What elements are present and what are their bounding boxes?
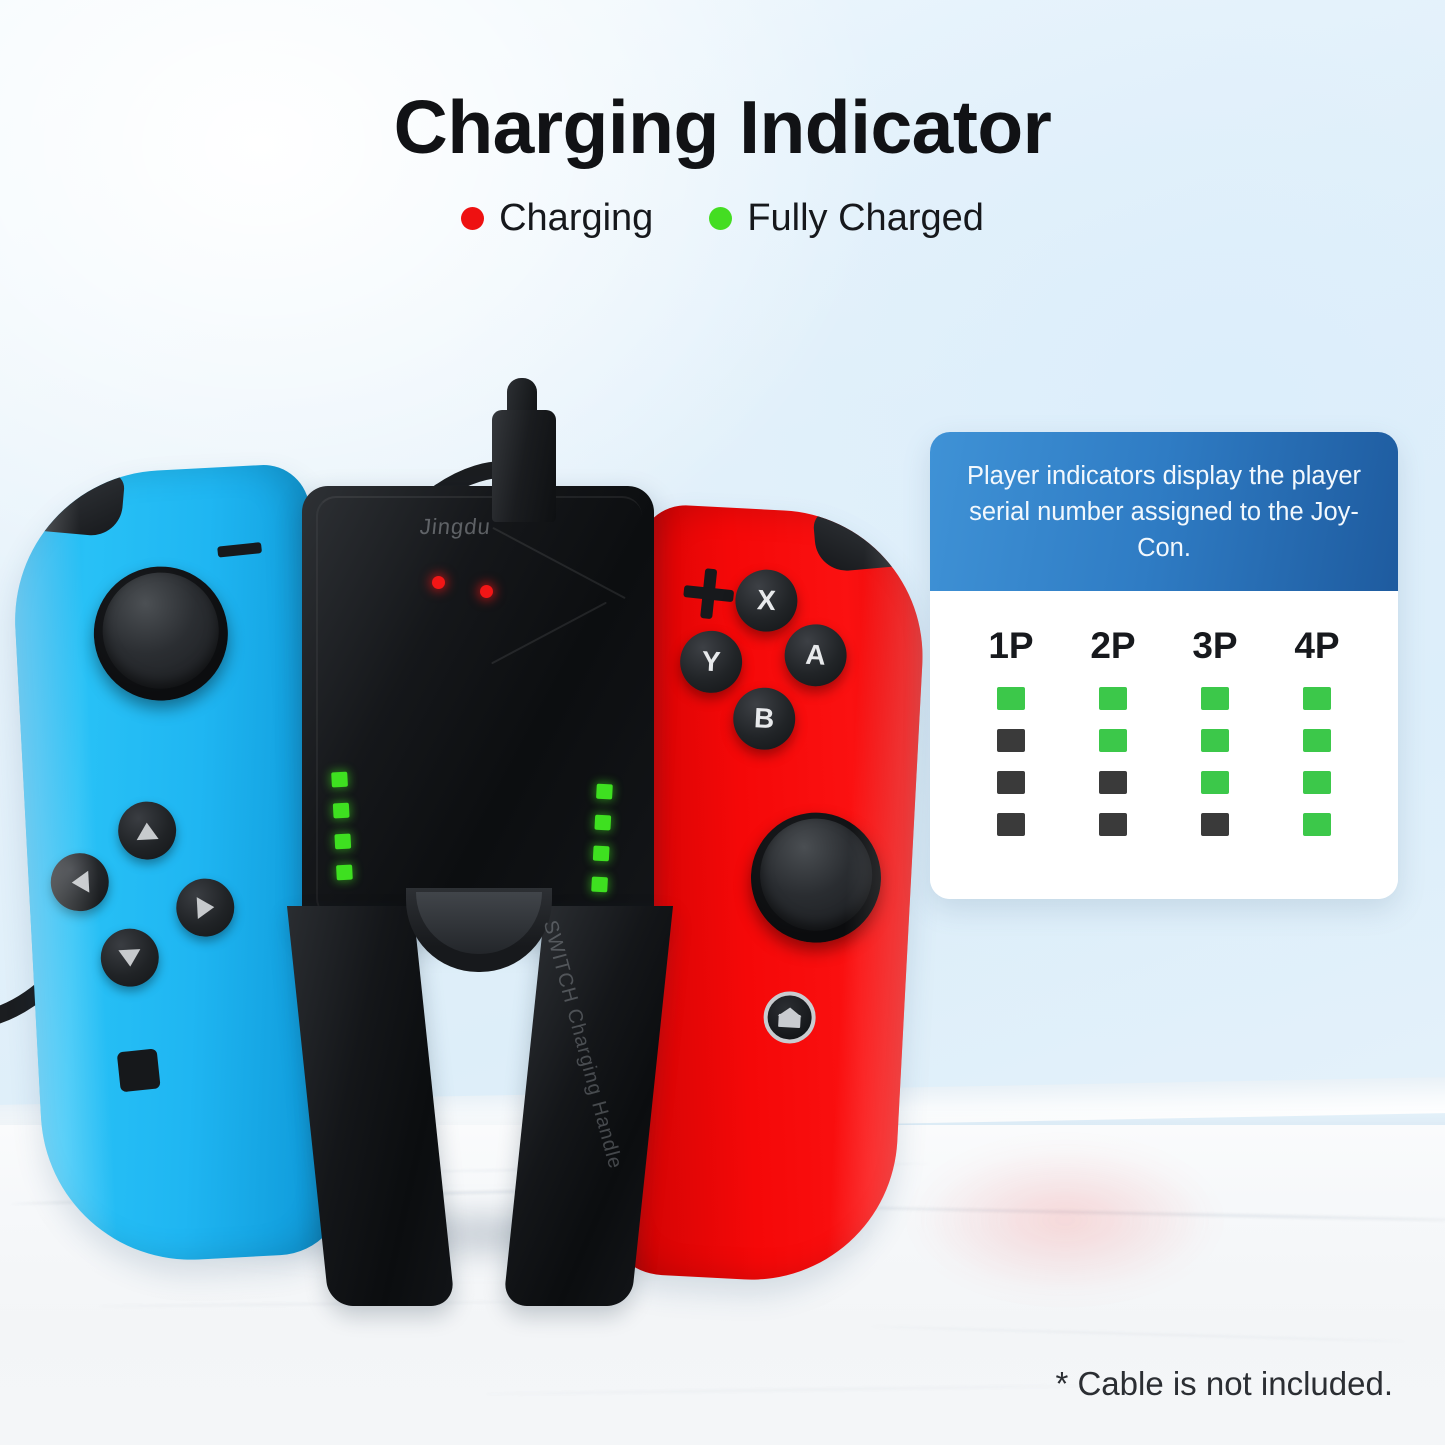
dpad-right-button[interactable] bbox=[175, 877, 236, 938]
marble-vein bbox=[871, 1326, 1405, 1343]
player-indicator-cell bbox=[960, 729, 1062, 752]
capture-button[interactable] bbox=[117, 1048, 161, 1092]
arrow-left-icon bbox=[71, 871, 89, 894]
red-reflection-glow bbox=[915, 1145, 1215, 1295]
player-indicator-cell bbox=[1062, 687, 1164, 710]
dpad-up-button[interactable] bbox=[117, 800, 178, 861]
led-on-icon bbox=[1303, 729, 1331, 752]
joycon-left bbox=[8, 463, 349, 1268]
led-off-icon bbox=[1201, 813, 1229, 836]
status-led bbox=[333, 803, 350, 819]
dpad-down-button[interactable] bbox=[99, 927, 160, 988]
player-indicator-columns: 1P 2P 3P 4P bbox=[960, 625, 1368, 667]
arrow-right-icon bbox=[196, 896, 214, 919]
player-indicator-cell bbox=[1164, 729, 1266, 752]
player-indicator-cell bbox=[1266, 813, 1368, 836]
arrow-down-icon bbox=[118, 949, 141, 967]
player-indicator-cell bbox=[1266, 687, 1368, 710]
charging-handle: Jingdu SWITCH Charging Handle bbox=[302, 486, 654, 1296]
led-on-icon bbox=[1303, 687, 1331, 710]
player-indicator-cell bbox=[1266, 771, 1368, 794]
charging-led-2 bbox=[480, 585, 493, 598]
arrow-up-icon bbox=[136, 822, 159, 840]
player-indicator-card: Player indicators display the player ser… bbox=[930, 432, 1398, 899]
led-off-icon bbox=[1099, 771, 1127, 794]
home-icon bbox=[778, 1007, 801, 1028]
minus-button[interactable] bbox=[217, 542, 262, 558]
player-indicator-cell bbox=[960, 771, 1062, 794]
led-on-icon bbox=[1201, 687, 1229, 710]
dpad-left-button[interactable] bbox=[49, 852, 110, 913]
led-on-icon bbox=[1201, 729, 1229, 752]
column-header-3p: 3P bbox=[1164, 625, 1266, 667]
page-title: Charging Indicator bbox=[0, 88, 1445, 167]
status-led bbox=[334, 834, 351, 850]
home-button[interactable] bbox=[762, 990, 817, 1045]
handle-accent-line bbox=[492, 527, 625, 599]
heading-block: Charging Indicator Charging Fully Charge… bbox=[0, 88, 1445, 240]
legend-label-fully-charged: Fully Charged bbox=[747, 197, 984, 240]
marble-vein bbox=[485, 1385, 1079, 1395]
status-led bbox=[591, 877, 608, 893]
player-indicator-cell bbox=[1062, 813, 1164, 836]
left-analog-stick[interactable] bbox=[90, 563, 231, 704]
red-dot-icon bbox=[461, 207, 484, 230]
status-legend: Charging Fully Charged bbox=[0, 197, 1445, 240]
status-led bbox=[331, 772, 348, 788]
brand-logo: Jingdu bbox=[419, 514, 493, 540]
usb-c-plug bbox=[492, 410, 556, 522]
player-indicator-row bbox=[960, 687, 1368, 710]
column-header-2p: 2P bbox=[1062, 625, 1164, 667]
left-analog-stick-cap bbox=[100, 570, 222, 692]
led-off-icon bbox=[997, 813, 1025, 836]
handle-leg-left bbox=[287, 906, 455, 1306]
legend-label-charging: Charging bbox=[499, 197, 653, 240]
player-indicator-row bbox=[960, 813, 1368, 836]
button-y[interactable]: Y bbox=[679, 629, 744, 694]
led-off-icon bbox=[1099, 813, 1127, 836]
led-off-icon bbox=[997, 729, 1025, 752]
legend-item-charging: Charging bbox=[461, 197, 653, 240]
product-photo: X A Y B Jingdu bbox=[20, 360, 920, 1260]
button-a[interactable]: A bbox=[783, 623, 848, 688]
player-indicator-cell bbox=[1164, 813, 1266, 836]
footnote-disclaimer: * Cable is not included. bbox=[1055, 1365, 1393, 1403]
player-indicator-cell bbox=[1062, 729, 1164, 752]
led-on-icon bbox=[1303, 771, 1331, 794]
led-on-icon bbox=[1099, 729, 1127, 752]
led-off-icon bbox=[997, 771, 1025, 794]
player-indicator-cell bbox=[1266, 729, 1368, 752]
player-indicator-cell bbox=[1164, 771, 1266, 794]
player-indicator-cell bbox=[1062, 771, 1164, 794]
column-header-4p: 4P bbox=[1266, 625, 1368, 667]
status-led bbox=[336, 865, 353, 881]
player-indicator-cell bbox=[1164, 687, 1266, 710]
charging-led-1 bbox=[432, 576, 445, 589]
player-indicator-row bbox=[960, 729, 1368, 752]
led-on-icon bbox=[1303, 813, 1331, 836]
player-indicator-cell bbox=[960, 813, 1062, 836]
led-on-icon bbox=[1201, 771, 1229, 794]
button-b[interactable]: B bbox=[732, 686, 797, 751]
right-analog-stick[interactable] bbox=[748, 809, 885, 946]
green-dot-icon bbox=[709, 207, 732, 230]
legend-item-fully-charged: Fully Charged bbox=[709, 197, 984, 240]
marble-vein bbox=[99, 1301, 544, 1308]
right-analog-stick-cap bbox=[757, 816, 875, 934]
player-indicator-row bbox=[960, 771, 1368, 794]
status-led bbox=[593, 846, 610, 862]
plus-button[interactable] bbox=[681, 566, 736, 621]
card-header-line-2: serial number assigned to the Joy-Con. bbox=[952, 494, 1376, 566]
led-on-icon bbox=[1099, 687, 1127, 710]
column-header-1p: 1P bbox=[960, 625, 1062, 667]
player-indicator-cell bbox=[960, 687, 1062, 710]
led-on-icon bbox=[997, 687, 1025, 710]
player-indicator-grid bbox=[960, 687, 1368, 836]
status-led bbox=[594, 815, 611, 831]
product-marketing-image: Charging Indicator Charging Fully Charge… bbox=[0, 0, 1445, 1445]
button-x[interactable]: X bbox=[734, 568, 799, 633]
card-header-line-1: Player indicators display the player bbox=[952, 458, 1376, 494]
player-indicator-table: 1P 2P 3P 4P bbox=[930, 591, 1398, 899]
status-led bbox=[596, 784, 613, 800]
handle-accent-line bbox=[491, 602, 607, 665]
player-indicator-card-header: Player indicators display the player ser… bbox=[930, 432, 1398, 591]
